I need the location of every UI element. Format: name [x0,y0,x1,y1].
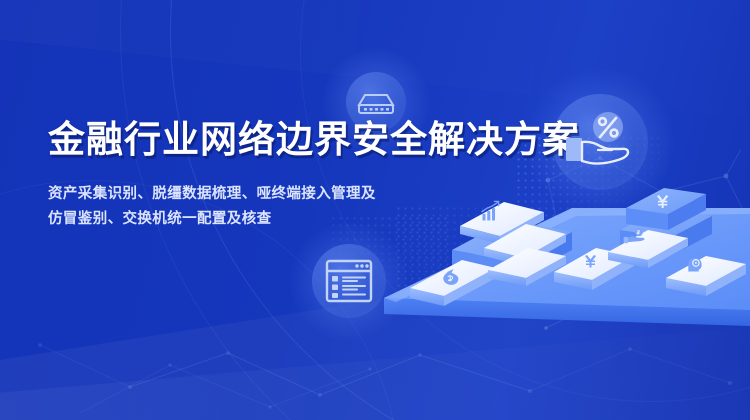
subtitle-line-1: 资产采集识别、脱缰数据梳理、哑终端接入管理及 [48,182,518,207]
page-title: 金融行业网络边界安全解决方案 [48,118,518,162]
subtitle-line-2: 仿冒鉴别、交换机统一配置及核查 [48,207,518,232]
financial-security-banner: 金融行业网络边界安全解决方案 资产采集识别、脱缰数据梳理、哑终端接入管理及 仿冒… [0,0,750,420]
document-list-icon [290,222,408,340]
page-subtitle: 资产采集识别、脱缰数据梳理、哑终端接入管理及 仿冒鉴别、交换机统一配置及核查 [48,182,518,233]
headline-block: 金融行业网络边界安全解决方案 资产采集识别、脱缰数据梳理、哑终端接入管理及 仿冒… [48,118,518,232]
